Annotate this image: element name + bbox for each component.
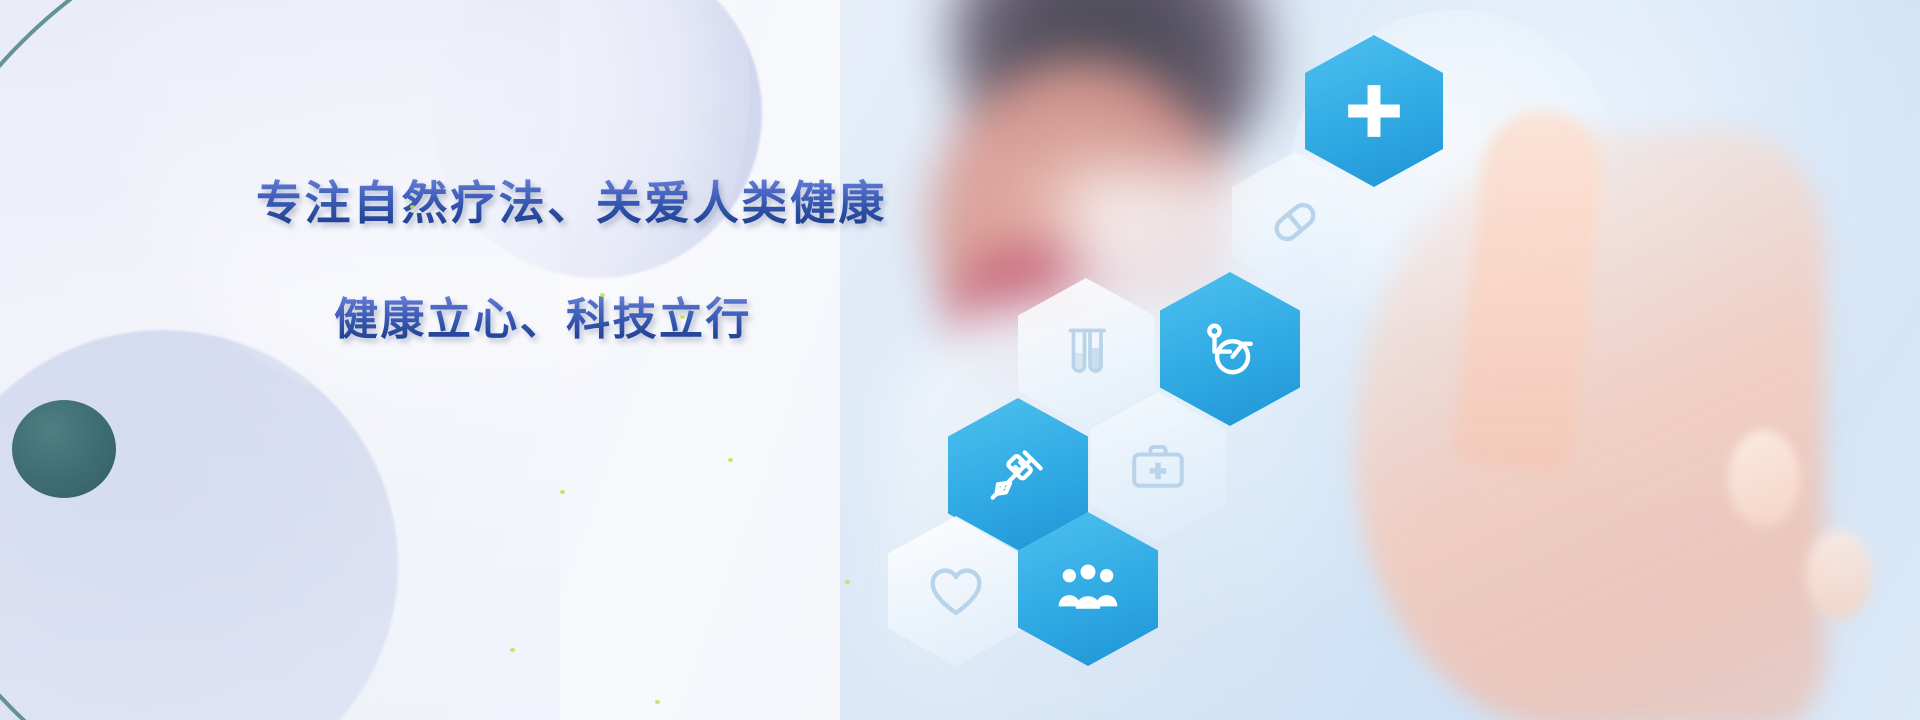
- doctor-photo-panel: 医疗药品检验康复注射急救关爱人群: [840, 0, 1920, 720]
- first-aid-kit-icon: [1128, 437, 1188, 497]
- capsule-pill-icon: [1264, 191, 1326, 253]
- people-group-icon: [1056, 557, 1120, 621]
- sparkle-dot-1: [410, 205, 415, 209]
- sparkle-dot-2: [600, 293, 605, 297]
- hexagon-icon-grid: 医疗药品检验康复注射急救关爱人群: [840, 0, 1920, 720]
- sparkle-dot-6: [845, 580, 850, 584]
- medical-cross-icon: [1343, 80, 1405, 142]
- sparkle-dot-5: [728, 458, 733, 462]
- test-tubes-icon: [1056, 323, 1116, 383]
- medical-cross-hex-tile[interactable]: 医疗: [1305, 35, 1443, 187]
- hero-banner: 专注自然疗法、关爱人类健康 健康立心、科技立行 医疗药品检验康复注射急救关爱人群: [0, 0, 1920, 720]
- capsule-pill-hex-tile[interactable]: 药品: [1232, 152, 1358, 291]
- wheelchair-hex-tile[interactable]: 康复: [1160, 272, 1300, 426]
- teal-dot-icon: [12, 400, 116, 498]
- sparkle-dot-4: [560, 490, 565, 494]
- wheelchair-icon: [1199, 318, 1261, 380]
- sparkle-dot-7: [510, 648, 515, 652]
- sparkle-dot-3: [680, 315, 685, 319]
- sparkle-dot-8: [655, 700, 660, 704]
- syringe-icon: [986, 443, 1050, 507]
- heart-care-icon: [925, 560, 987, 622]
